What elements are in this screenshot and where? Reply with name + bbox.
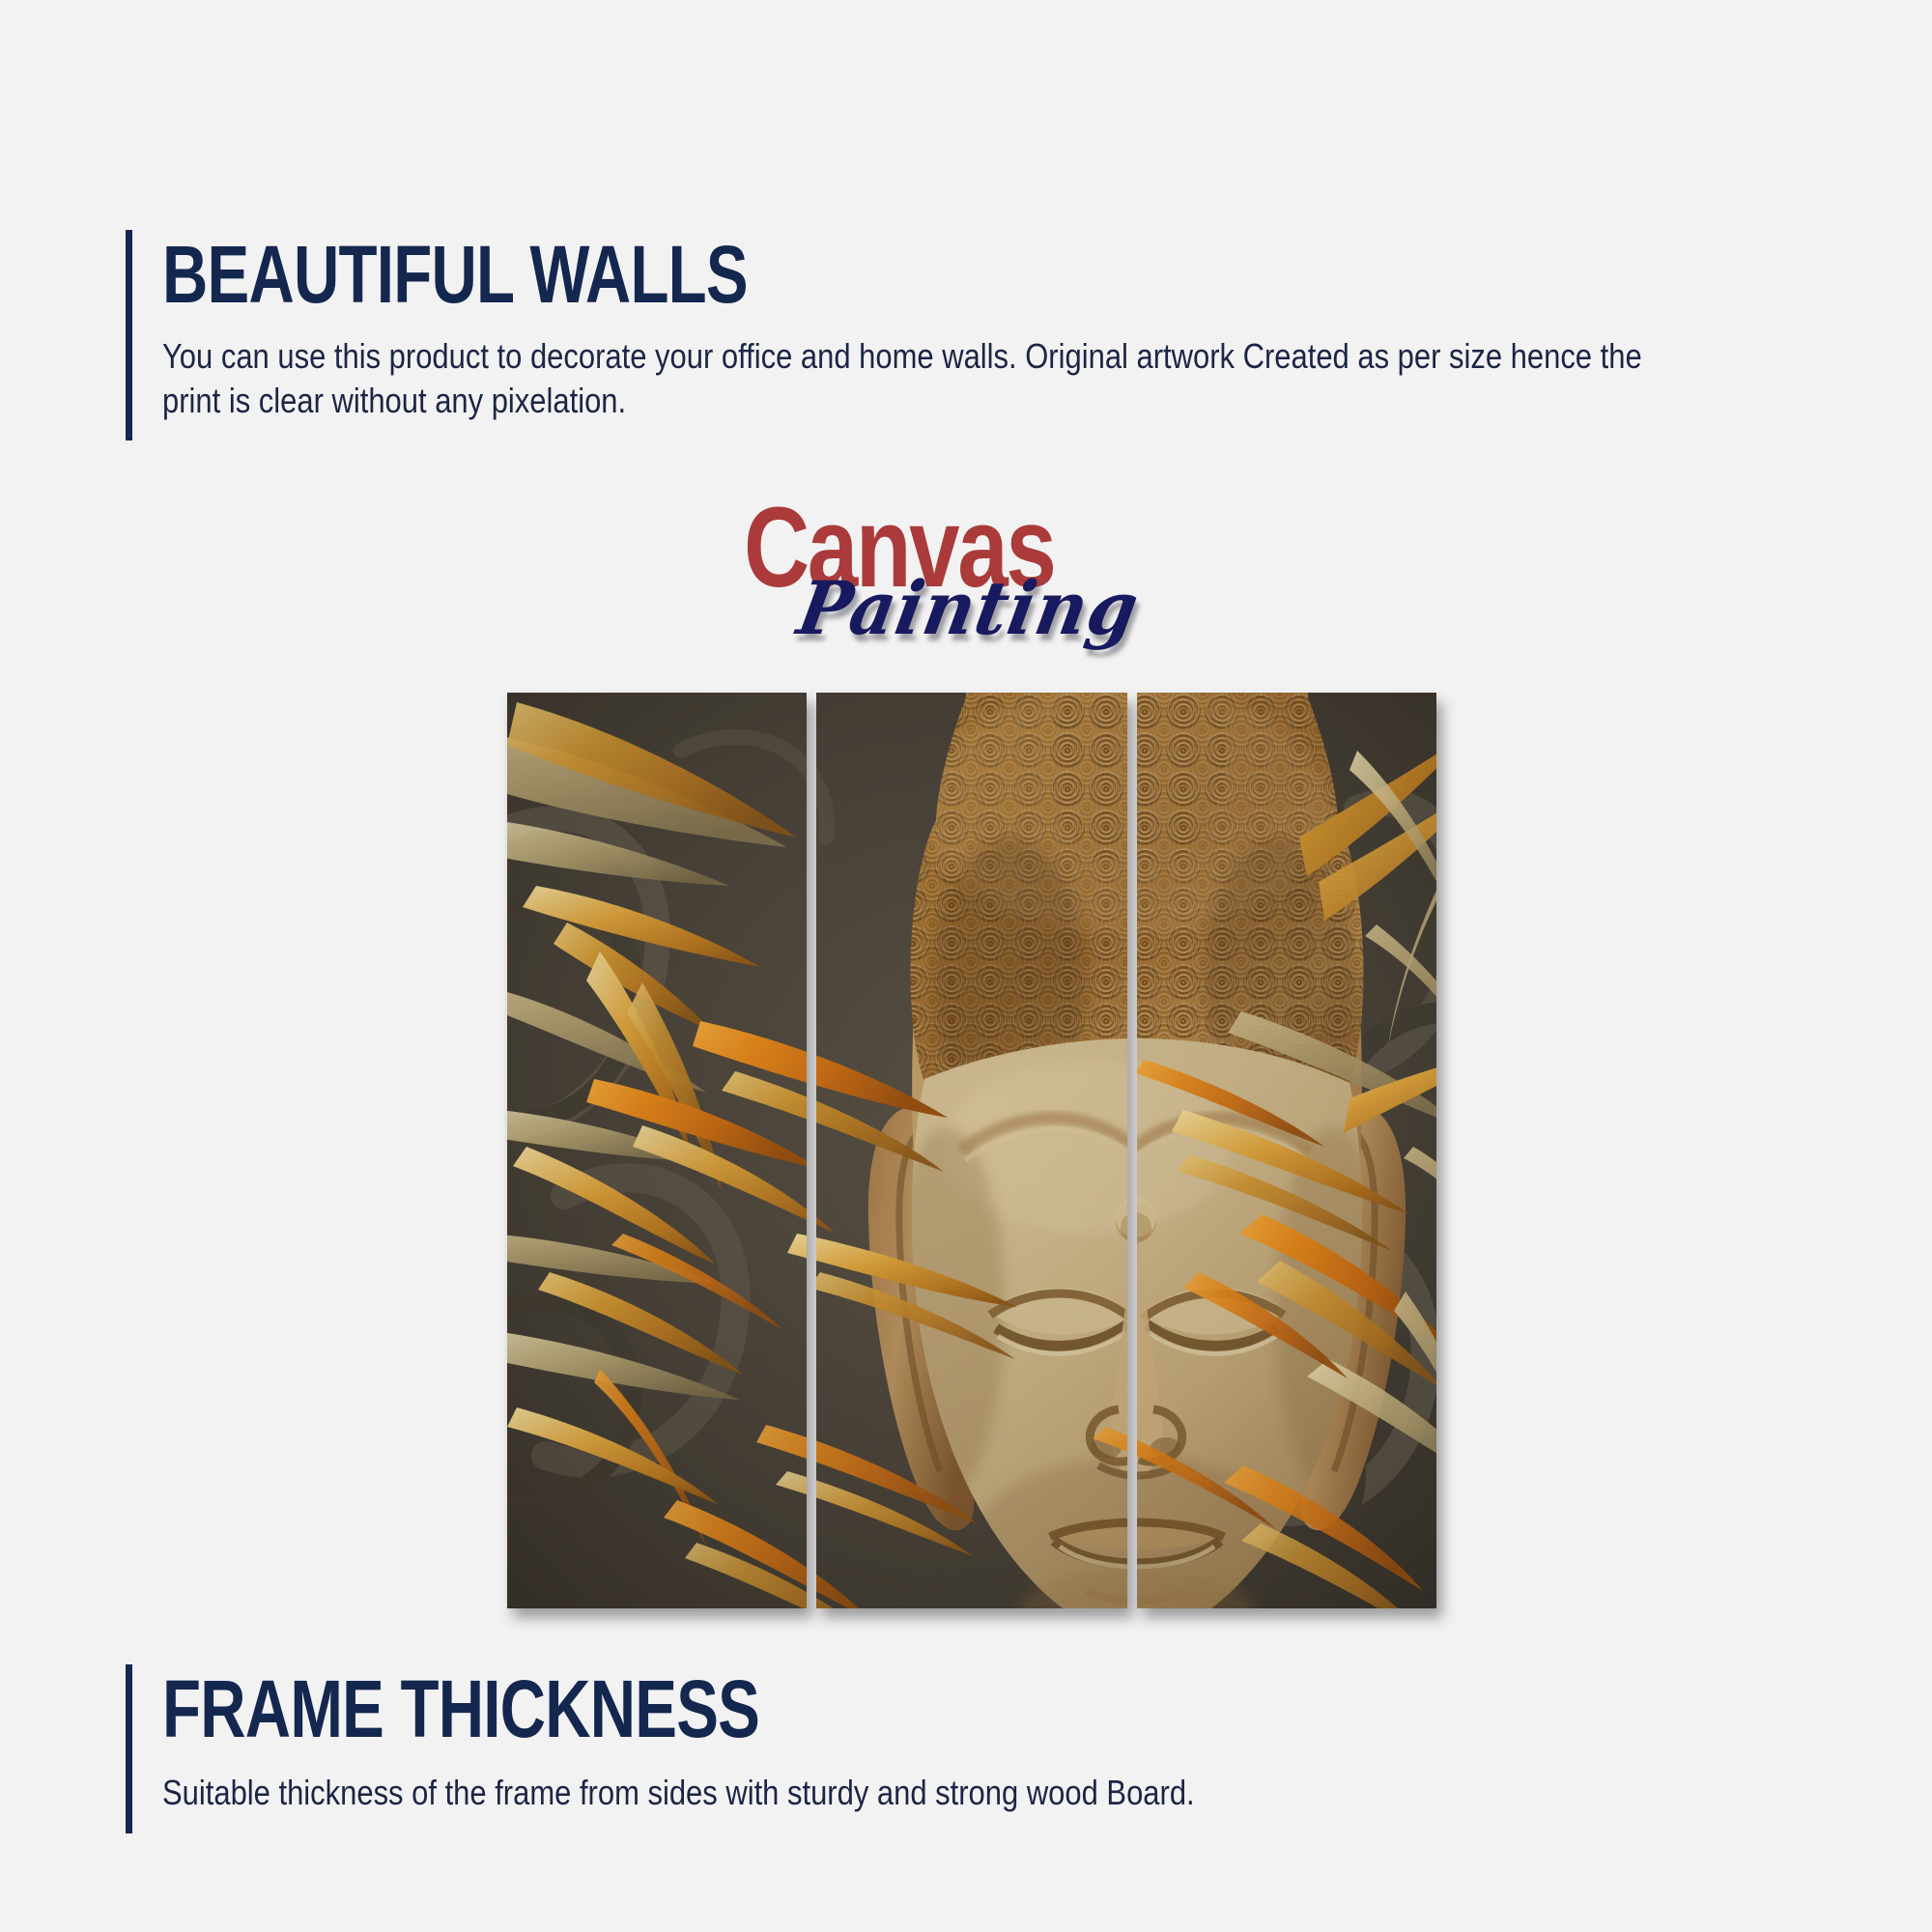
buddha-triptych-artwork (507, 693, 1436, 1608)
logo-script-word: Painting (793, 572, 1145, 645)
frame-thickness-section: FRAME THICKNESS Suitable thickness of th… (126, 1664, 1363, 1833)
accent-rule-top (126, 230, 132, 440)
frame-thickness-headline: FRAME THICKNESS (162, 1664, 1098, 1749)
artwork-panel-left (507, 693, 807, 1608)
accent-rule-bottom (126, 1664, 132, 1833)
canvas-painting-logo: Canvas Painting (744, 491, 1246, 689)
frame-thickness-description: Suitable thickness of the frame from sid… (162, 1749, 1195, 1815)
beautiful-walls-section: BEAUTIFUL WALLS You can use this product… (126, 230, 1932, 440)
beautiful-walls-headline: BEAUTIFUL WALLS (162, 230, 1543, 315)
beautiful-walls-description: You can use this product to decorate you… (162, 315, 1685, 423)
artwork-panel-right (1137, 693, 1436, 1608)
product-infographic-page: BEAUTIFUL WALLS You can use this product… (0, 0, 1932, 1932)
artwork-panel-center (816, 693, 1127, 1608)
